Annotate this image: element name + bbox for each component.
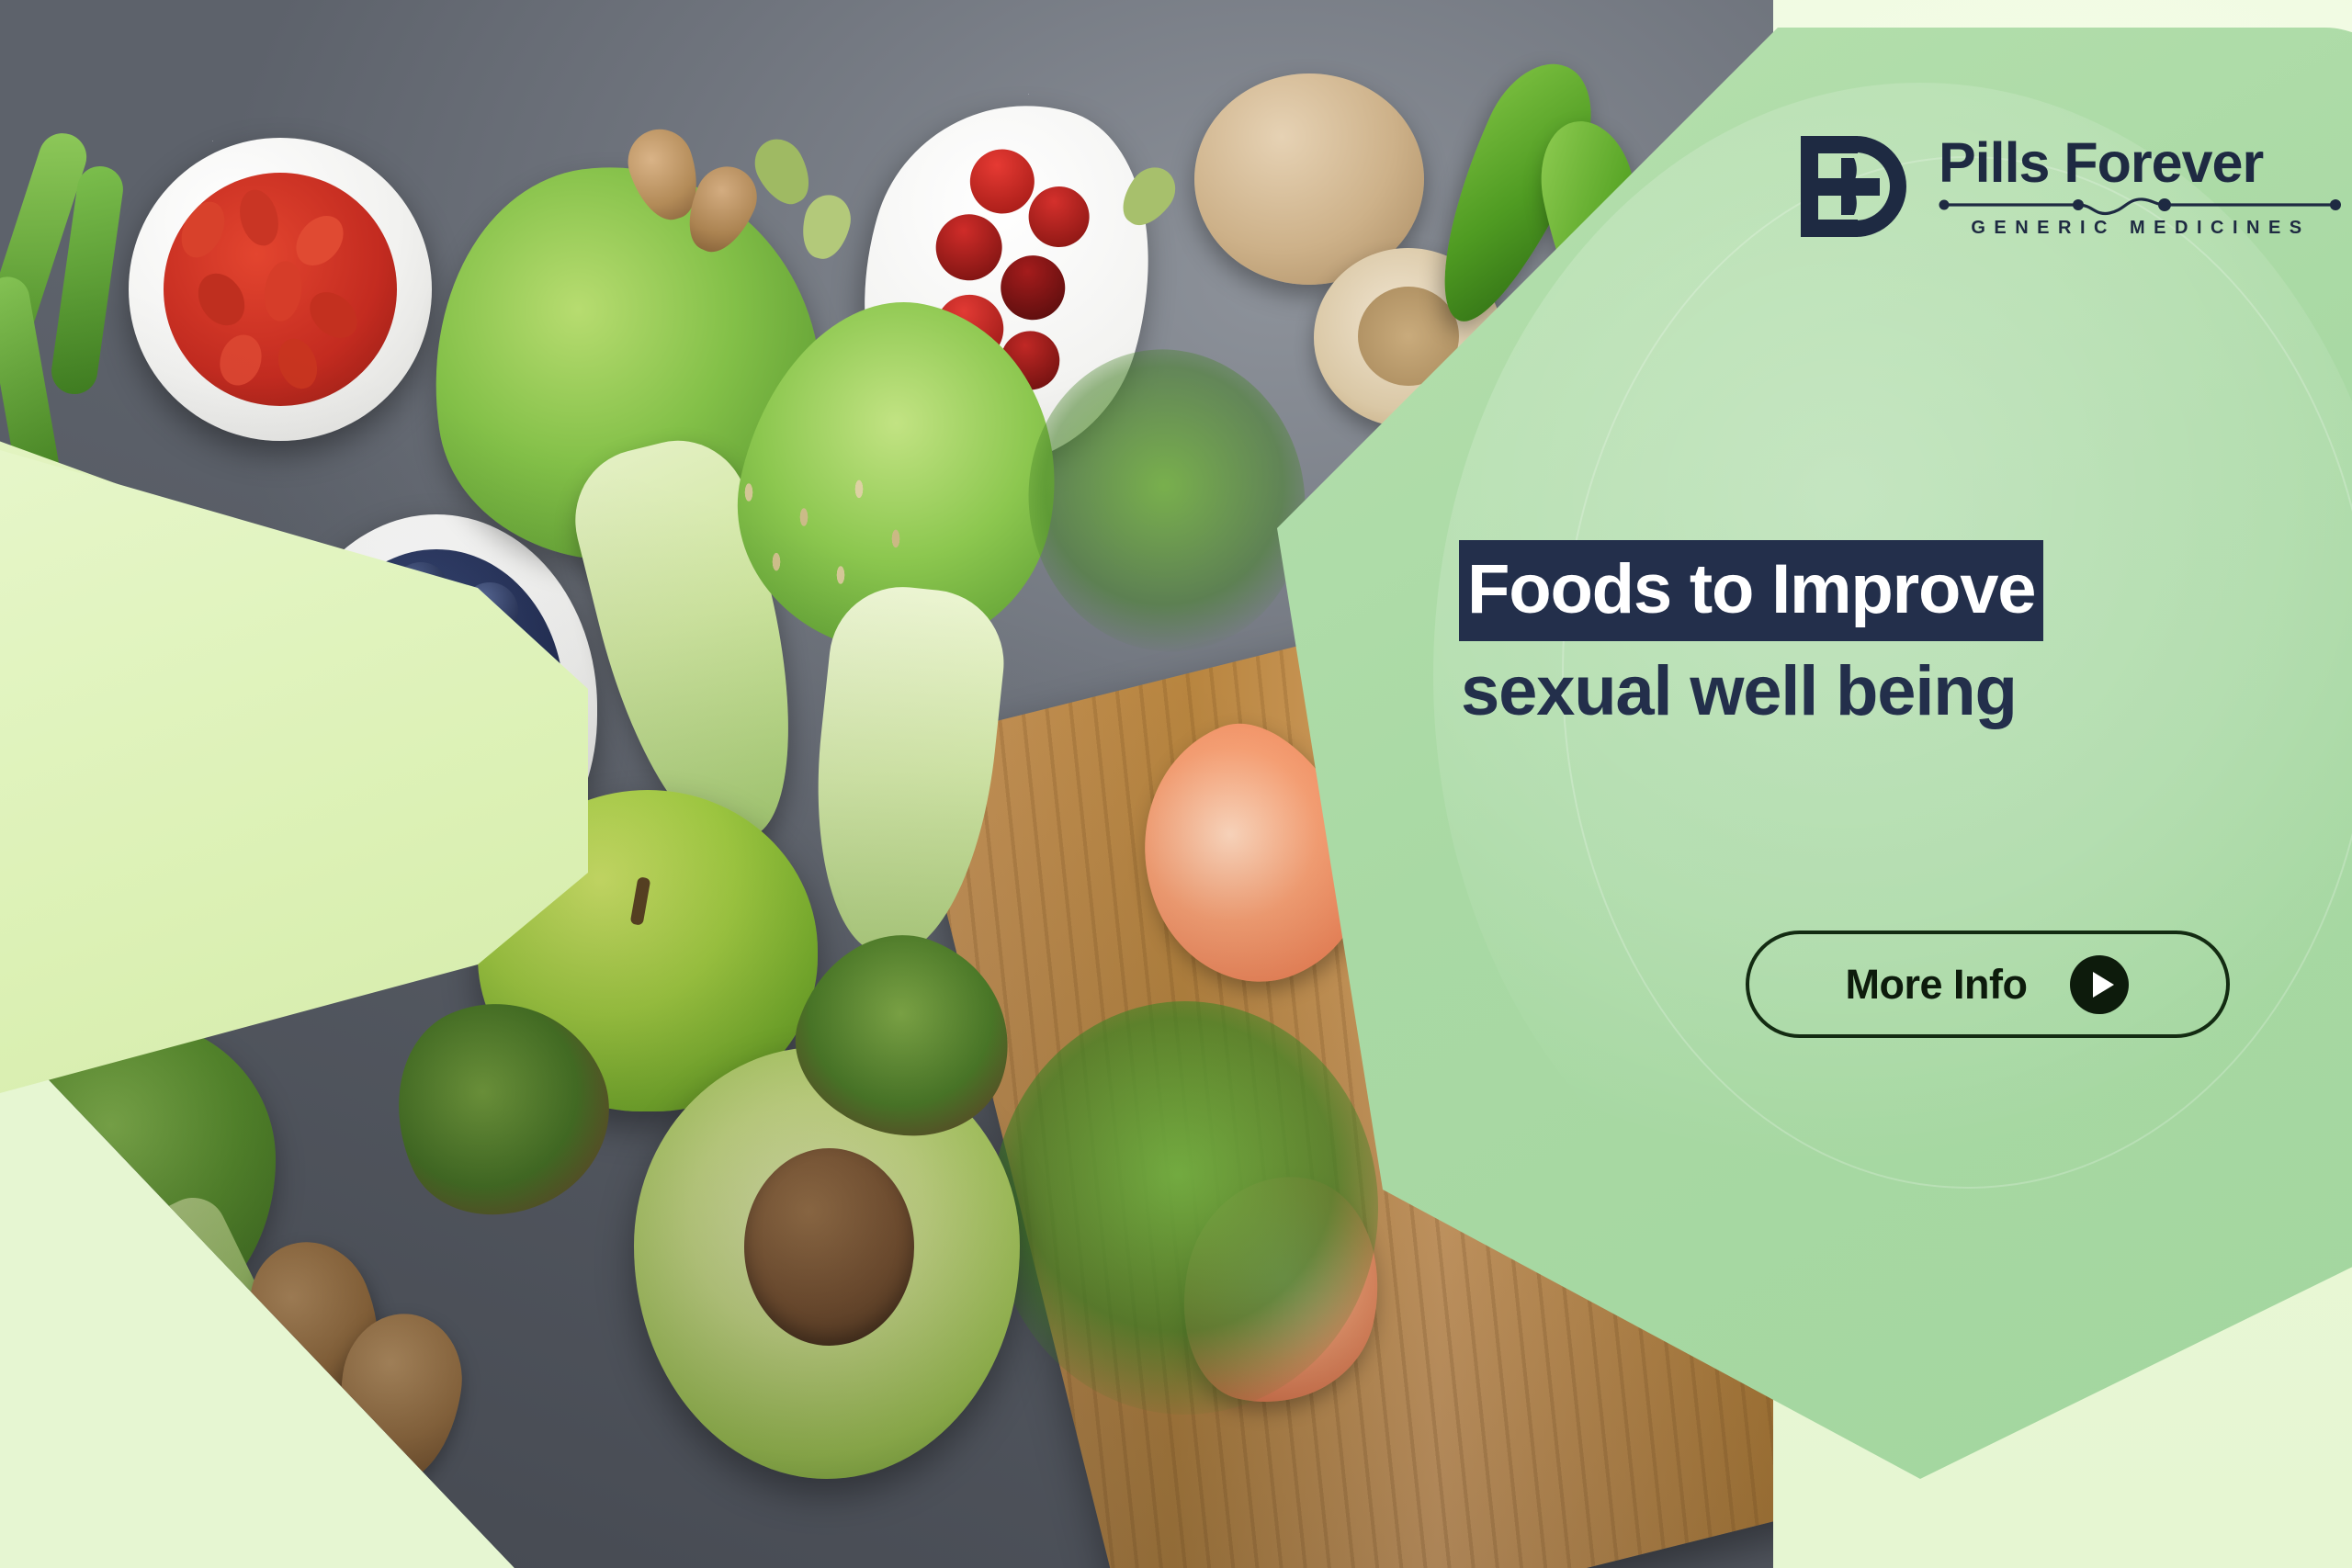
headline-block: Foods to Improve sexual well being (1459, 540, 2157, 729)
brand-tagline: GENERIC MEDICINES (1939, 218, 2343, 239)
brand-name: Pills Forever (1939, 135, 2343, 191)
more-info-label: More Info (1846, 961, 2028, 1009)
play-circle-icon (2069, 954, 2130, 1015)
headline-line-2: sexual well being (1459, 654, 2157, 729)
heartbeat-line-icon (1939, 193, 2343, 217)
logo-text-block: Pills Forever GENERIC MEDICINES (1939, 135, 2343, 239)
ed-monogram-icon (1801, 130, 1918, 243)
more-info-button[interactable]: More Info (1746, 931, 2230, 1038)
headline-line-1: Foods to Improve (1459, 540, 2043, 641)
brand-logo[interactable]: Pills Forever GENERIC MEDICINES (1801, 118, 2343, 255)
banner-root: Pills Forever GENERIC MEDICINES Foods to… (0, 0, 2352, 1568)
